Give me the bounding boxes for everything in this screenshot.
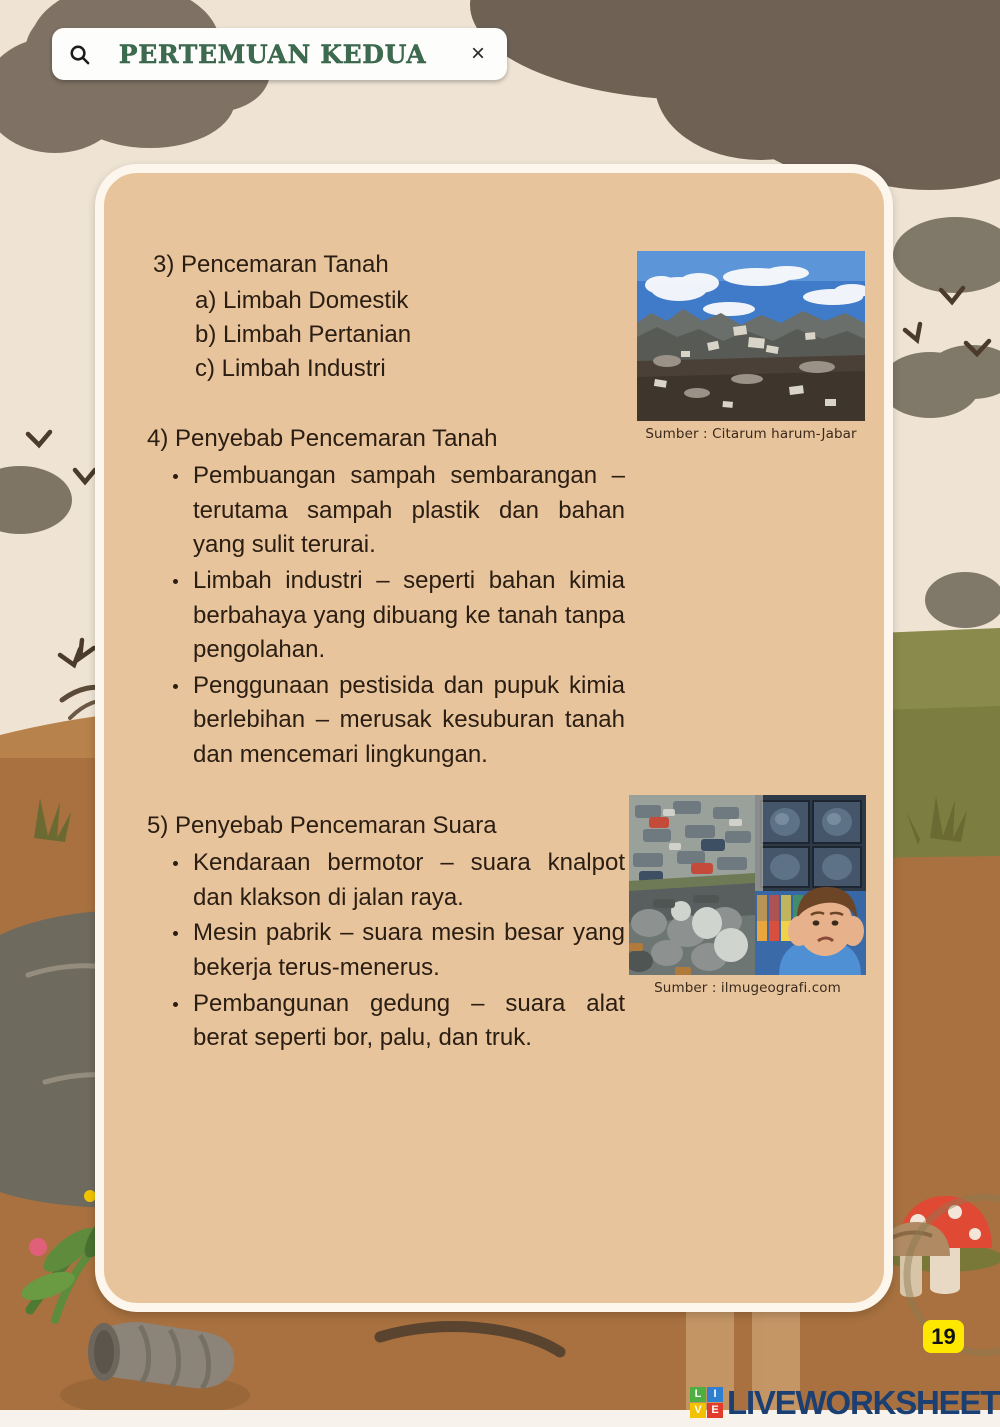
page-number-badge: 19: [923, 1320, 964, 1353]
logo-tiles: L I V E: [690, 1387, 723, 1418]
section5-bullet-list: Kendaraan bermotor – suara knalpot dan k…: [147, 846, 625, 1055]
noise-pollution-collage-photo: [629, 795, 866, 975]
figure-caption: Sumber : Citarum harum-Jabar: [637, 426, 865, 442]
worksheet-text-column: 3) Pencemaran Tanah a) Limbah Domestik b…: [147, 248, 625, 1057]
spacer: [147, 386, 625, 422]
logo-tile-v: V: [690, 1403, 706, 1418]
section4-heading: 4) Penyebab Pencemaran Tanah: [147, 422, 625, 456]
list-item: Mesin pabrik – suara mesin besar yang be…: [147, 916, 625, 985]
landfill-photo: [637, 251, 865, 421]
page-title: PERTEMUAN KEDUA: [106, 40, 449, 69]
list-item: Limbah industri – seperti bahan kimia be…: [147, 564, 625, 668]
liveworksheets-logo[interactable]: L I V E LIVEWORKSHEETS: [690, 1382, 1000, 1422]
search-icon[interactable]: [52, 43, 106, 66]
section3-item-c: c) Limbah Industri: [147, 352, 625, 386]
figure-noise-collage: Sumber : ilmugeografi.com: [629, 795, 866, 996]
section4-bullet-list: Pembuangan sampah sembarangan – terutama…: [147, 459, 625, 772]
close-icon[interactable]: ×: [449, 42, 507, 66]
figure-landfill: Sumber : Citarum harum-Jabar: [637, 251, 865, 442]
section3-item-b: b) Limbah Pertanian: [147, 318, 625, 352]
section3-heading: 3) Pencemaran Tanah: [147, 248, 625, 282]
logo-tile-l: L: [690, 1387, 706, 1402]
logo-wordmark: LIVEWORKSHEETS: [727, 1386, 1000, 1419]
logo-tile-e: E: [707, 1403, 723, 1418]
worksheet-card: 3) Pencemaran Tanah a) Limbah Domestik b…: [95, 164, 893, 1312]
section5-heading: 5) Penyebab Pencemaran Suara: [147, 809, 625, 843]
list-item: Penggunaan pestisida dan pupuk kimia ber…: [147, 669, 625, 773]
logo-tile-i: I: [707, 1387, 723, 1402]
section3-item-a: a) Limbah Domestik: [147, 284, 625, 318]
worksheet-page: 3) Pencemaran Tanah a) Limbah Domestik b…: [104, 173, 884, 1303]
list-item: Pembangunan gedung – suara alat berat se…: [147, 987, 625, 1056]
list-item: Pembuangan sampah sembarangan – terutama…: [147, 459, 625, 563]
figure-caption: Sumber : ilmugeografi.com: [629, 980, 866, 996]
spacer: [147, 773, 625, 809]
screenshot-root: PERTEMUAN KEDUA × 3) Pencemaran Tanah a)…: [0, 0, 1000, 1427]
title-search-bar[interactable]: PERTEMUAN KEDUA ×: [52, 28, 507, 80]
list-item: Kendaraan bermotor – suara knalpot dan k…: [147, 846, 625, 915]
